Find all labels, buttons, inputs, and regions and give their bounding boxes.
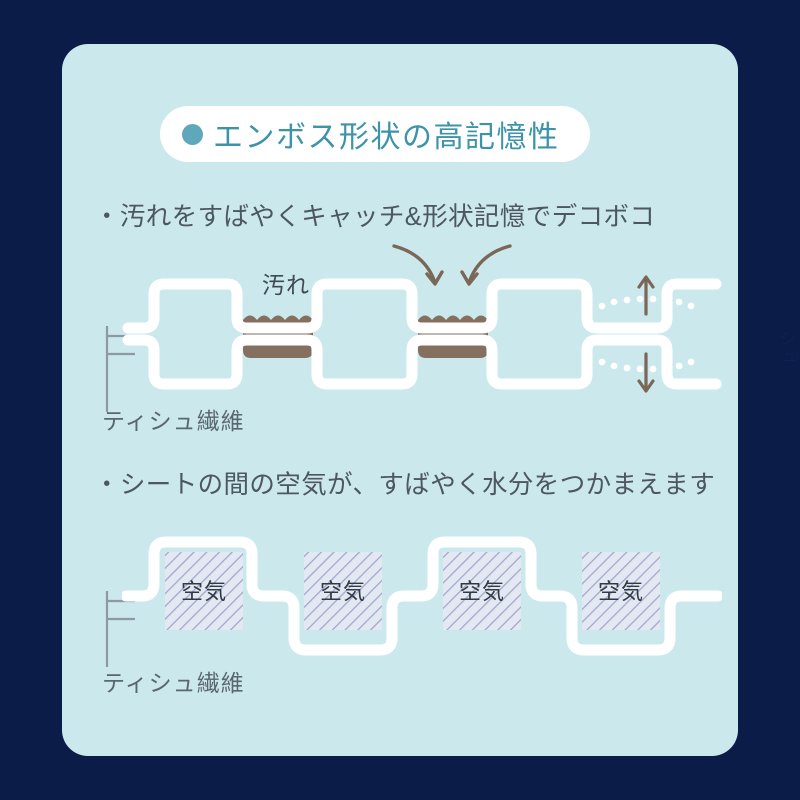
- curved-arrow-down-left-icon: [394, 246, 442, 284]
- bullet-dot-icon: [182, 124, 203, 145]
- air-label-1: 空気: [181, 579, 227, 604]
- content-panel: エンボス形状の高記憶性 ・汚れをすばやくキャッチ&形状記憶でデコボコ 汚れ: [62, 44, 738, 756]
- edge-vertical-text: シュ: [770, 330, 796, 368]
- curved-arrow-down-right-icon: [462, 246, 510, 284]
- arrow-down-icon: [639, 354, 653, 391]
- section-title-pill: エンボス形状の高記憶性: [160, 106, 590, 162]
- bullet-text-1: ・汚れをすばやくキャッチ&形状記憶でデコボコ: [94, 196, 655, 233]
- screenshot-canvas: シュ エンボス形状の高記憶性 ・汚れをすばやくキャッチ&形状記憶でデコボコ 汚れ: [0, 0, 800, 800]
- air-label-4: 空気: [598, 579, 644, 604]
- fiber-caption-1: ティシュ繊維: [102, 402, 245, 436]
- fiber-caption-2: ティシュ繊維: [102, 664, 245, 698]
- page-title: エンボス形状の高記憶性: [213, 112, 560, 156]
- arrow-up-icon: [639, 277, 653, 314]
- embossed-fiber-dirt-capture-diagram: [122, 244, 722, 424]
- bullet-text-2: ・シートの間の空気が、すばやく水分をつかまえます: [94, 464, 715, 501]
- air-label-2: 空気: [320, 579, 366, 604]
- air-label-3: 空気: [459, 579, 505, 604]
- embossed-fiber-air-pocket-diagram: 空気 空気 空気 空気: [122, 534, 722, 659]
